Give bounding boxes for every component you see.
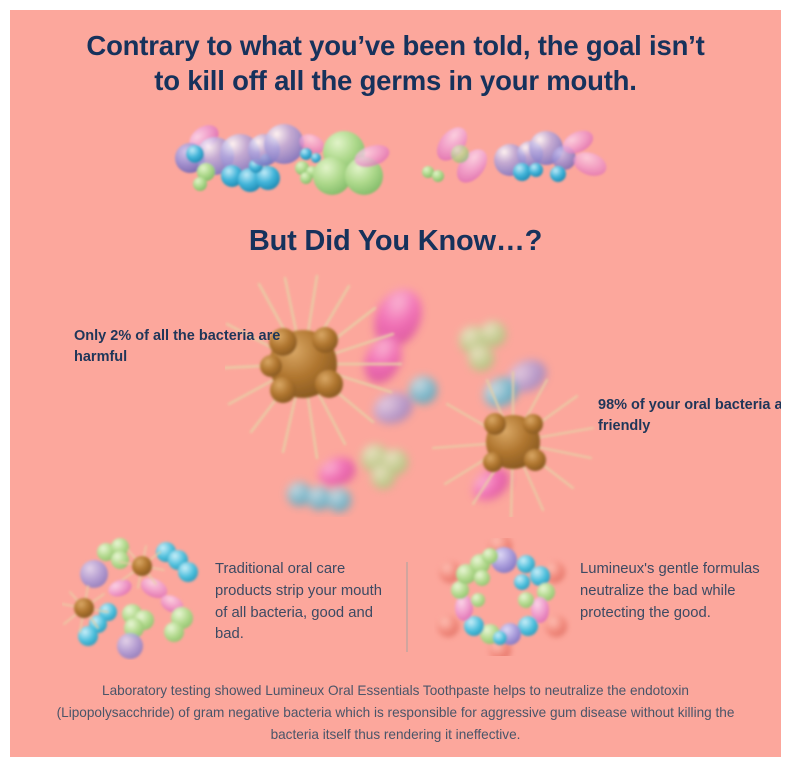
callout-friendly-percentage: 98% of your oral bacteria are friendly [598,395,781,436]
spiky-bacterium-small [433,372,593,517]
bacteria-group-far-right [494,126,610,182]
callout-harmful-percentage: Only 2% of all the bacteria are harmful [74,326,284,367]
scattered-cluster [78,538,198,659]
headline-line-2: to kill off all the germs in your mouth. [38,63,753,98]
bacteria-group-right [422,122,493,189]
bacteria-chain-illustration [160,114,630,214]
protective-ring [451,547,555,645]
column-right-description: Lumineux's gentle formulas neutralize th… [580,559,770,624]
column-left-description: Traditional oral care products strip you… [215,559,395,646]
page-title: Contrary to what you’ve been told, the g… [10,28,781,99]
scattered-bacteria-illustration [62,532,222,660]
spiky-harmful-bacteria-illustration [225,272,625,517]
headline-line-1: Contrary to what you’ve been told, the g… [86,30,704,61]
footer-disclaimer: Laboratory testing showed Lumineux Oral … [55,680,736,746]
poster-panel: Contrary to what you’ve been told, the g… [10,10,781,757]
section-subtitle: But Did You Know…? [10,225,781,258]
protective-bacteria-ring-illustration [434,538,574,656]
column-divider [406,562,408,652]
